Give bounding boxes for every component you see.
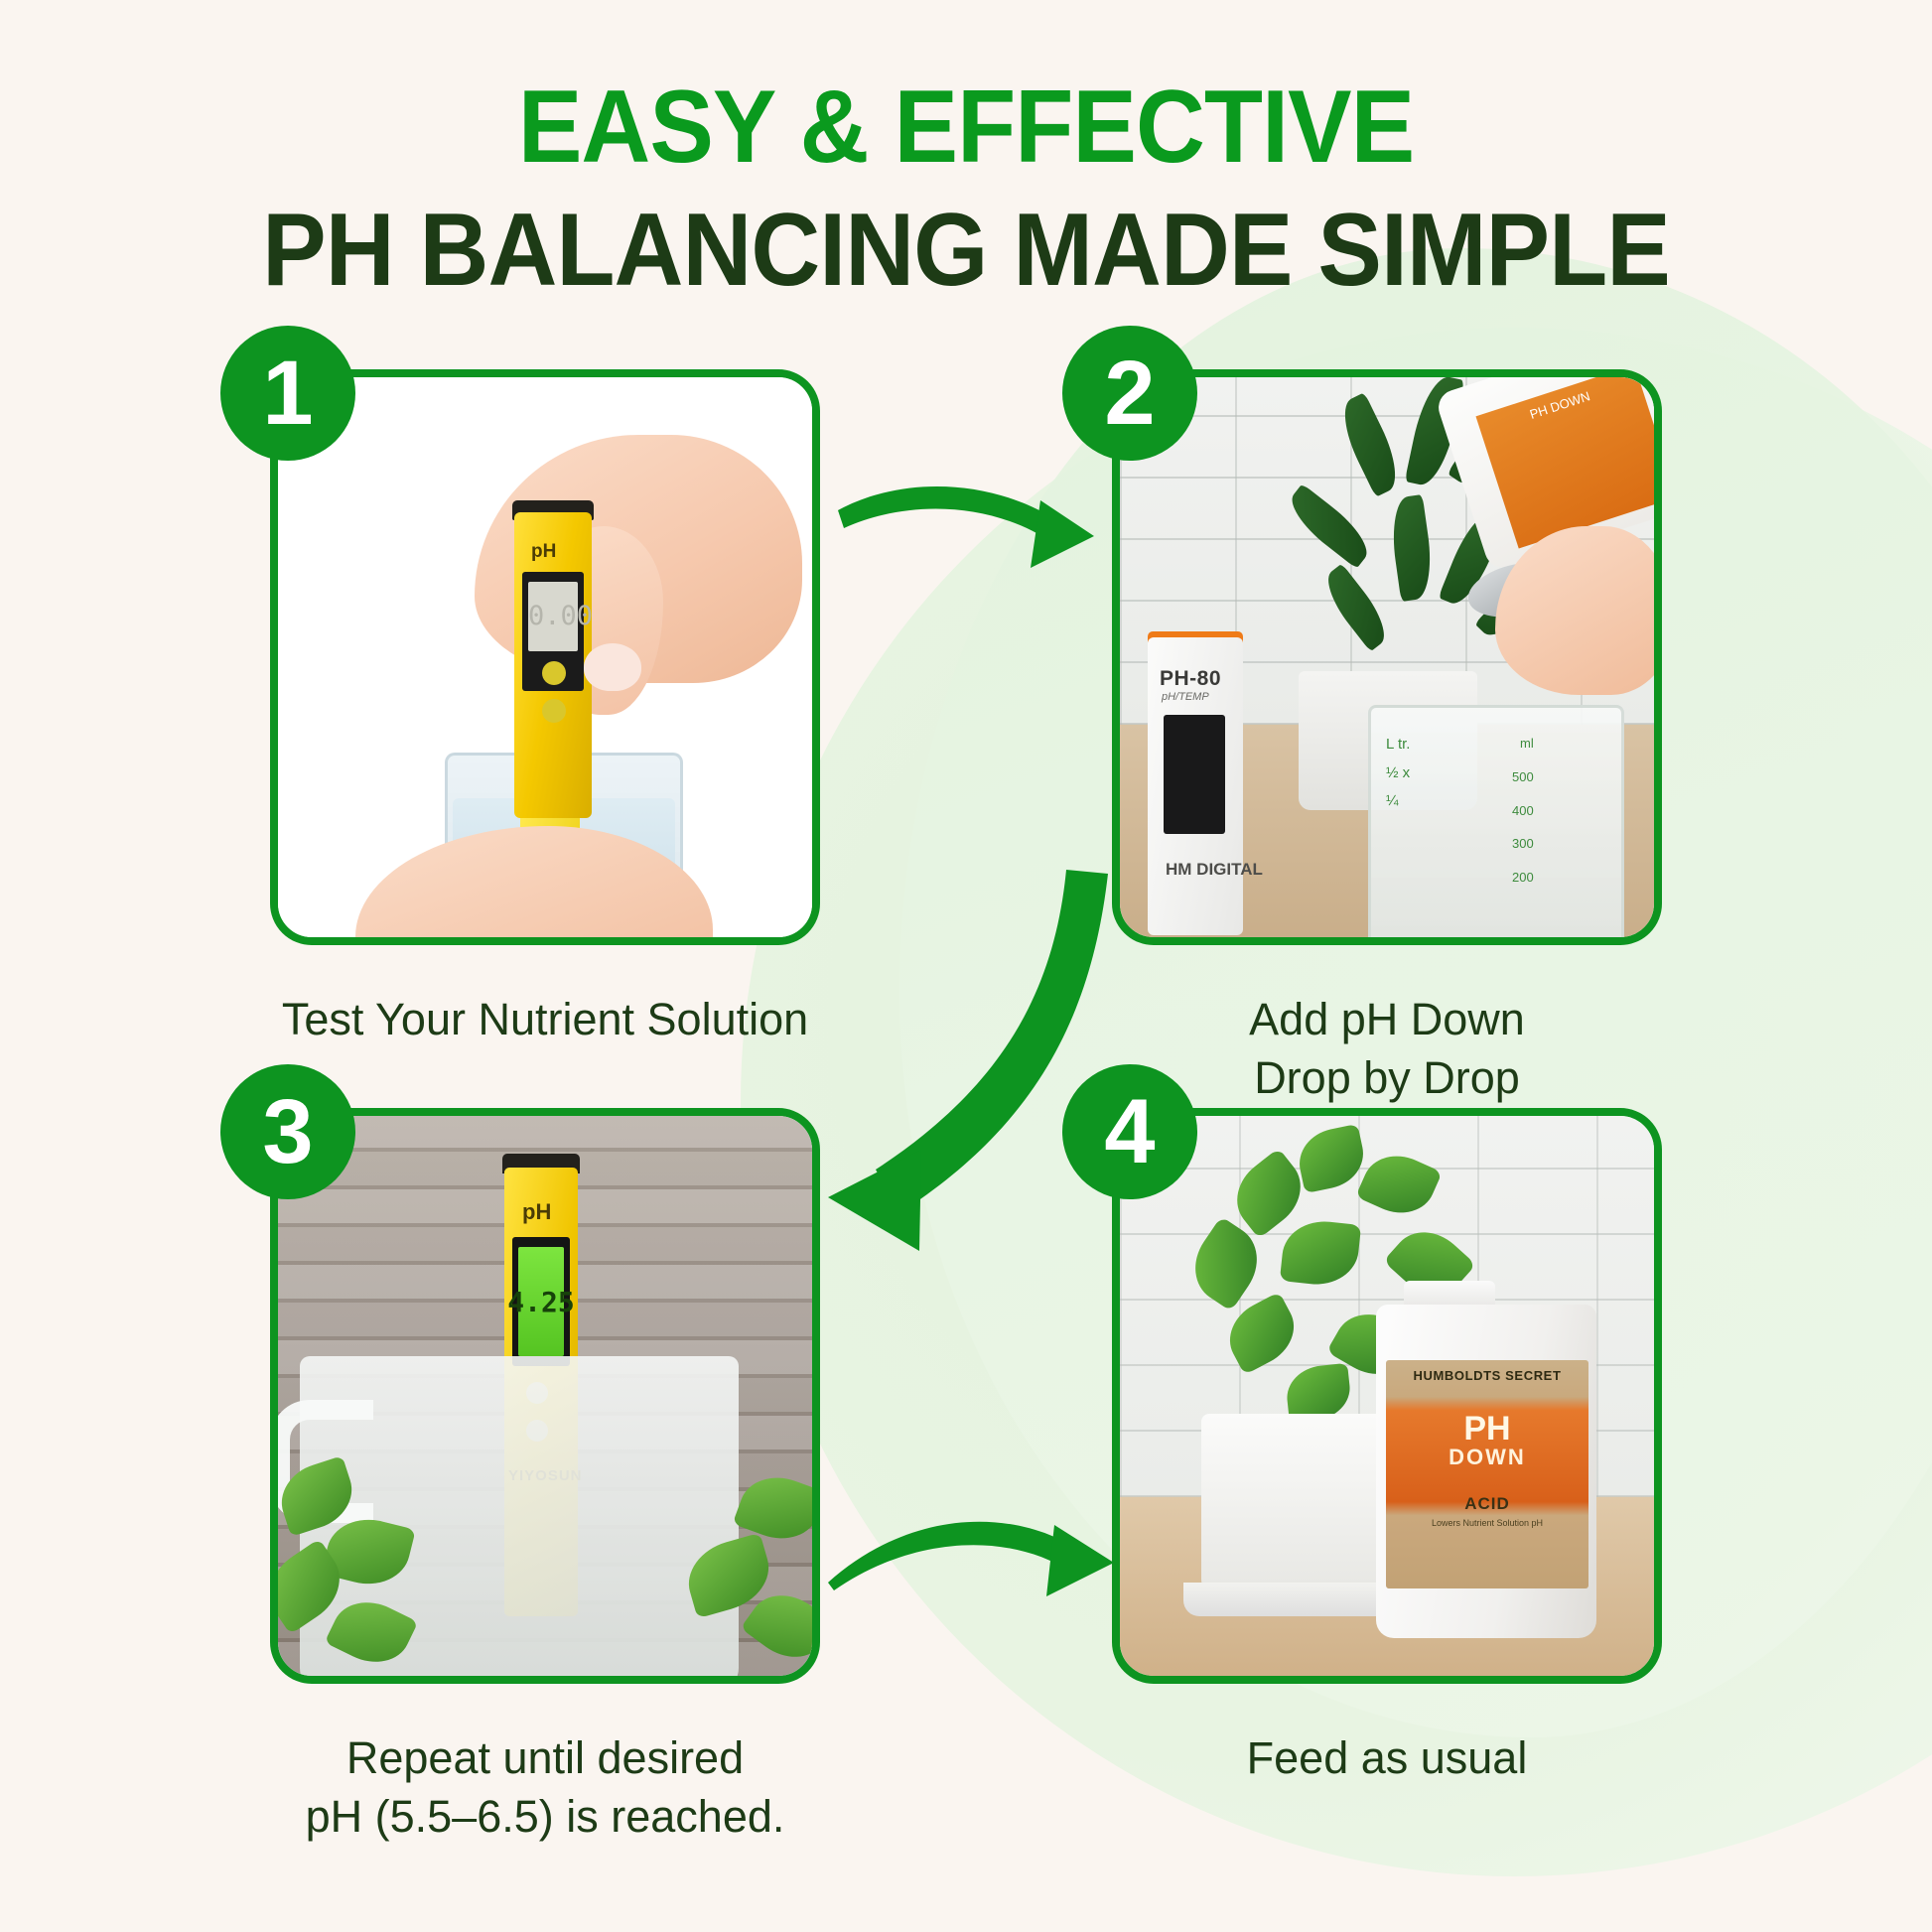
label-down: DOWN [1449,1445,1526,1470]
headline-line-2: PH BALANCING MADE SIMPLE [68,193,1864,308]
foliage-right [633,1448,812,1676]
label-acid: ACID [1464,1494,1510,1514]
step-caption-3: Repeat until desired pH (5.5–6.5) is rea… [198,1729,893,1846]
jug-volume-marks: L tr. ½ x ¼ [1386,731,1410,816]
pen-lcd-display: 0.00 [528,582,578,651]
step-2-image-frame: PH-80 pH/TEMP HM DIGITAL L tr. ½ x ¼ ml … [1112,369,1662,945]
step-4-image-frame: HUMBOLDTS SECRET PH DOWN ACID Lowers Nut… [1112,1108,1662,1684]
step-1-photo: pH 0.00 [278,377,812,937]
label-brand: HUMBOLDTS SECRET [1414,1368,1562,1383]
pen3-ph-label: pH [522,1199,551,1225]
pen-cal-button [542,699,566,723]
step-caption-1: Test Your Nutrient Solution [198,991,893,1049]
step-number-badge-1: 1 [220,326,355,461]
step-card-2: PH-80 pH/TEMP HM DIGITAL L tr. ½ x ¼ ml … [1112,369,1734,1107]
step-number-badge-2: 2 [1062,326,1197,461]
ph-down-jug-label: HUMBOLDTS SECRET PH DOWN ACID Lowers Nut… [1386,1360,1588,1588]
step-number-badge-4: 4 [1062,1064,1197,1199]
step-card-1: pH 0.00 1 Test Your Nutrient Solution [270,369,893,1049]
step-4-photo: HUMBOLDTS SECRET PH DOWN ACID Lowers Nut… [1120,1116,1654,1676]
step-caption-4: Feed as usual [1039,1729,1734,1788]
meter-screen [1164,715,1225,834]
ph-label: pH [531,541,556,563]
meter-model-label: PH-80 [1160,667,1221,691]
step-1-image-frame: pH 0.00 [270,369,820,945]
pen-power-button [542,661,566,685]
foliage [278,1448,461,1676]
meter-brand-label: HM DIGITAL [1166,860,1263,880]
step-3-photo: pH 4.25 YIYOSUN [278,1116,812,1676]
fingernail [584,643,641,691]
step-card-4: HUMBOLDTS SECRET PH DOWN ACID Lowers Nut… [1112,1108,1734,1788]
label-ph: PH [1463,1413,1510,1445]
meter-submodel-label: pH/TEMP [1162,691,1209,703]
step-card-3: pH 4.25 YIYOSUN [270,1108,893,1846]
headline-block: EASY & EFFECTIVE PH BALANCING MADE SIMPL… [0,0,1932,308]
infographic-page: EASY & EFFECTIVE PH BALANCING MADE SIMPL… [0,0,1932,1932]
step-2-photo: PH-80 pH/TEMP HM DIGITAL L tr. ½ x ¼ ml … [1120,377,1654,937]
label-subtext: Lowers Nutrient Solution pH [1432,1518,1543,1528]
pen3-lcd-reading: 4.25 [518,1247,564,1356]
step-number-badge-3: 3 [220,1064,355,1199]
jug-ml-scale: ml 500 400 300 200 [1512,727,1534,895]
headline-line-1: EASY & EFFECTIVE [68,75,1864,179]
step-3-image-frame: pH 4.25 YIYOSUN [270,1108,820,1684]
